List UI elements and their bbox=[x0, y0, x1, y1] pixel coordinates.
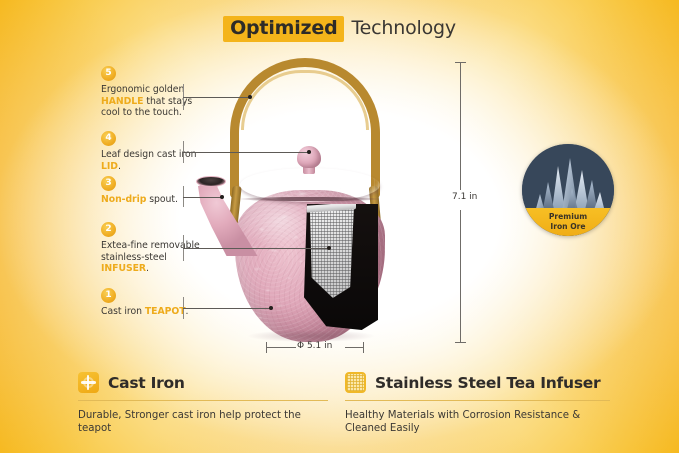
callout-2-anchor-dot bbox=[327, 246, 331, 250]
callout-5-text-before: Ergonomic golden bbox=[101, 84, 184, 95]
iron-ore-label: Premium Iron Ore bbox=[522, 208, 614, 236]
feature-cast-iron-header: Cast Iron bbox=[78, 372, 328, 393]
callout-5-anchor-dot bbox=[248, 95, 252, 99]
iron-ore-label-line1: Premium bbox=[522, 212, 614, 222]
feature-cast-iron-desc: Durable, Stronger cast iron help protect… bbox=[78, 409, 328, 436]
callout-3-text: Non-drip spout. bbox=[101, 194, 213, 206]
infographic-canvas: OptimizedTechnology 5 Ergonomic golden H… bbox=[0, 0, 679, 453]
infuser-cutaway-window bbox=[304, 204, 378, 330]
callout-2-text-before: Extea-fine removable stainless-steel bbox=[101, 240, 200, 263]
feature-infuser-header: Stainless Steel Tea Infuser bbox=[345, 372, 610, 393]
premium-iron-ore-badge: Premium Iron Ore bbox=[522, 144, 614, 236]
callout-3: 3 Non-drip spout. bbox=[101, 176, 213, 206]
callout-2-text: Extea-fine removable stainless-steel INF… bbox=[101, 240, 213, 275]
height-dimension: 7.1 in bbox=[455, 62, 495, 342]
callout-5-text: Ergonomic golden HANDLE that stays cool … bbox=[101, 84, 213, 119]
callout-1-anchor-dot bbox=[269, 306, 273, 310]
callout-3-text-after: spout. bbox=[146, 194, 178, 205]
callout-1-keyword: TEAPOT bbox=[145, 306, 186, 317]
callout-3-keyword: Non-drip bbox=[101, 194, 146, 205]
stainless-mesh-infuser bbox=[306, 206, 354, 298]
height-dimension-label: 7.1 in bbox=[452, 192, 496, 202]
callout-1-leader bbox=[183, 308, 271, 309]
callout-1-text-before: Cast iron bbox=[101, 306, 145, 317]
feature-infuser-desc: Healthy Materials with Corrosion Resista… bbox=[345, 409, 610, 436]
callout-2-leader bbox=[183, 248, 329, 249]
feature-cast-iron: Cast Iron Durable, Stronger cast iron he… bbox=[78, 372, 328, 436]
callout-1: 1 Cast iron TEAPOT. bbox=[101, 288, 213, 318]
callout-3-badge: 3 bbox=[101, 176, 116, 191]
feature-infuser-divider bbox=[345, 400, 610, 401]
callout-5: 5 Ergonomic golden HANDLE that stays coo… bbox=[101, 66, 213, 119]
callout-5-keyword: HANDLE bbox=[101, 96, 143, 107]
width-dimension-line-left bbox=[266, 347, 296, 348]
callout-3-anchor-dot bbox=[220, 195, 224, 199]
sparkle-icon bbox=[78, 372, 99, 393]
callout-4-badge: 4 bbox=[101, 131, 116, 146]
callout-3-leader bbox=[183, 197, 222, 198]
feature-cast-iron-divider bbox=[78, 400, 328, 401]
title-rest: Technology bbox=[351, 17, 455, 39]
callout-1-badge: 1 bbox=[101, 288, 116, 303]
width-dimension-label: Φ 5.1 in bbox=[297, 341, 332, 351]
title-highlight: Optimized bbox=[223, 16, 344, 42]
width-dimension-cap-right bbox=[363, 342, 364, 353]
height-dimension-line-upper bbox=[460, 62, 461, 190]
callout-2-text-after: . bbox=[146, 263, 149, 274]
callout-5-badge: 5 bbox=[101, 66, 116, 81]
callout-4-anchor-dot bbox=[307, 150, 311, 154]
lid-seam bbox=[240, 197, 380, 201]
feature-infuser: Stainless Steel Tea Infuser Healthy Mate… bbox=[345, 372, 610, 436]
feature-infuser-title: Stainless Steel Tea Infuser bbox=[375, 374, 600, 392]
callout-4-keyword: LID bbox=[101, 161, 118, 172]
height-dimension-cap-bottom bbox=[455, 342, 466, 343]
page-title: OptimizedTechnology bbox=[0, 16, 679, 42]
callout-4-leader bbox=[183, 152, 309, 153]
callout-2-badge: 2 bbox=[101, 222, 116, 237]
iron-ore-label-line2: Iron Ore bbox=[522, 222, 614, 232]
callout-2-keyword: INFUSER bbox=[101, 263, 146, 274]
mesh-grid-icon bbox=[345, 372, 366, 393]
callout-4-text-after: . bbox=[118, 161, 121, 172]
teapot-illustration bbox=[196, 58, 412, 346]
feature-cast-iron-title: Cast Iron bbox=[108, 374, 185, 392]
width-dimension: Φ 5.1 in bbox=[266, 340, 364, 360]
callout-5-leader bbox=[183, 97, 250, 98]
height-dimension-line-lower bbox=[460, 210, 461, 342]
width-dimension-line-right bbox=[345, 347, 364, 348]
